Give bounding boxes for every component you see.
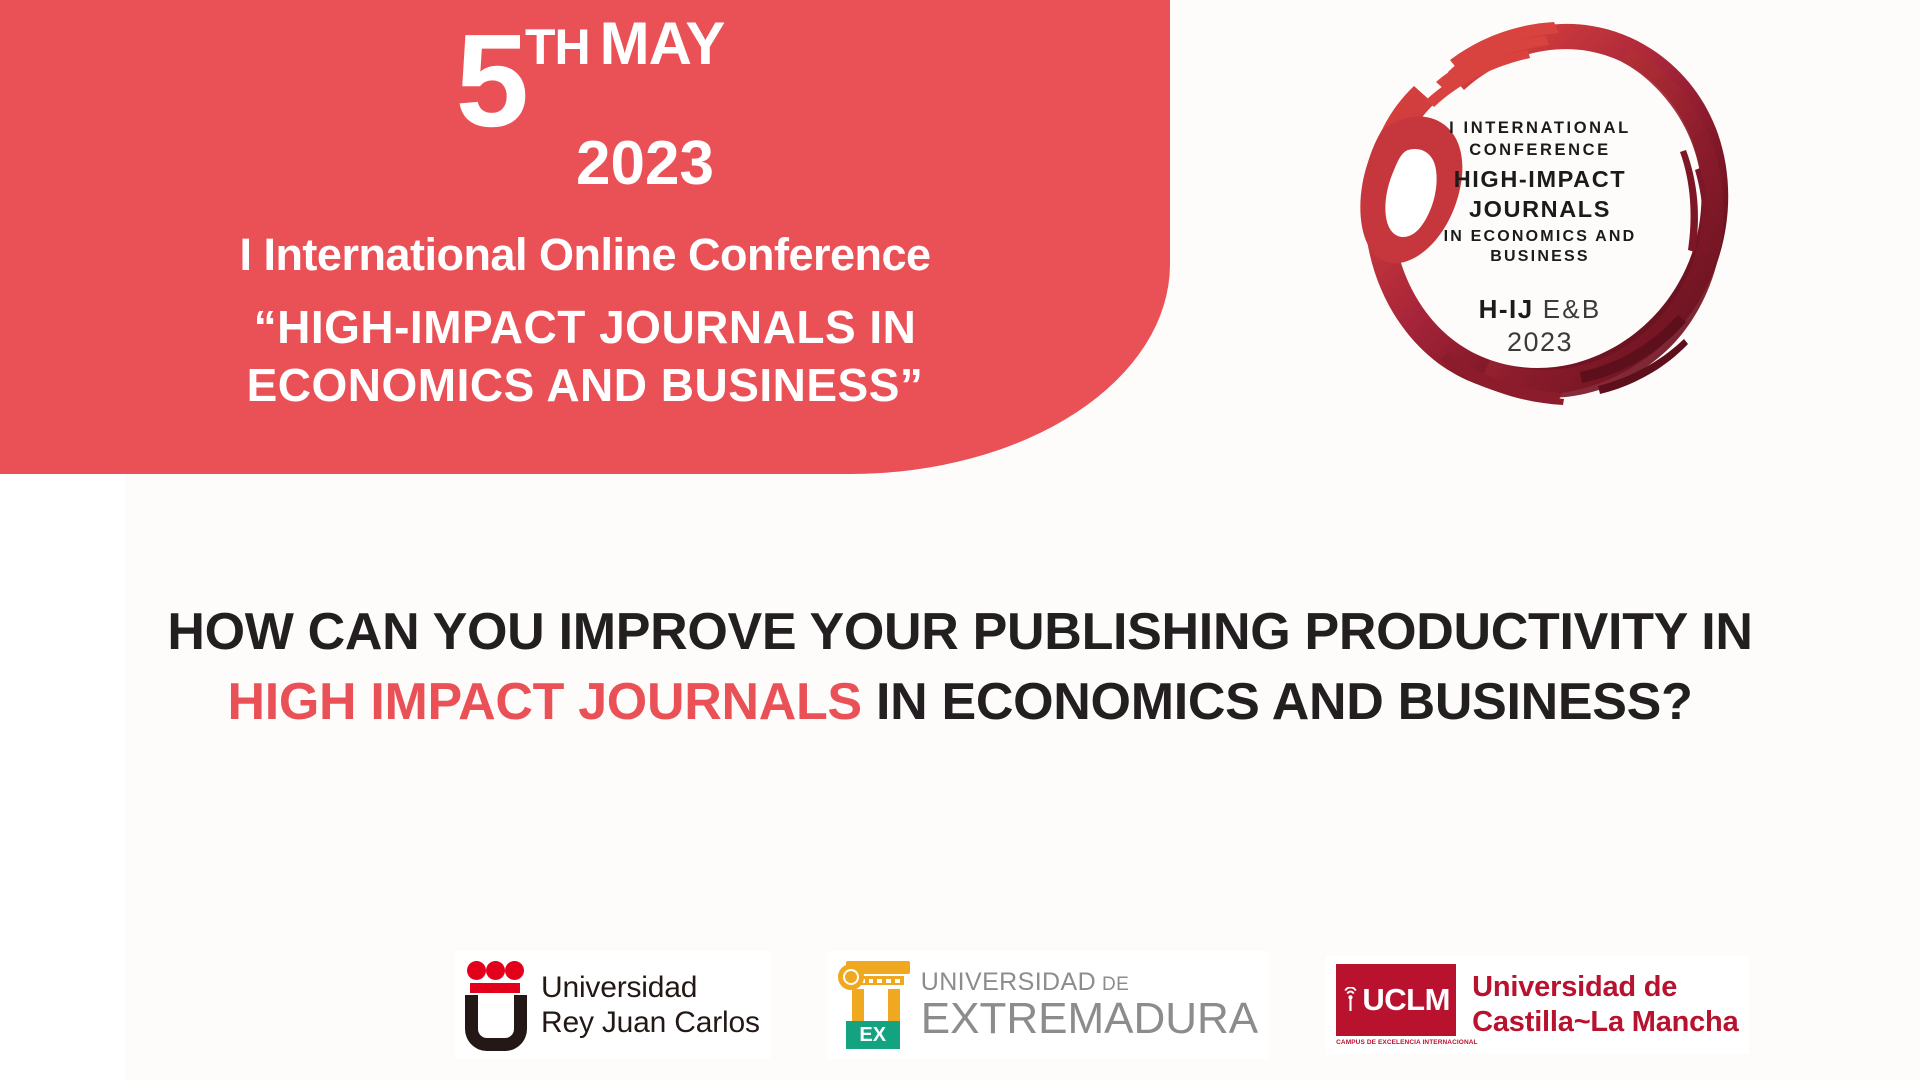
uex-badge: EX	[846, 1021, 900, 1049]
logo-line-2: CONFERENCE	[1469, 140, 1611, 162]
uclm-line-2: Castilla~La Mancha	[1472, 1005, 1738, 1040]
logo-line-6: BUSINESS	[1490, 247, 1589, 268]
conference-subtitle: I International Online Conference	[0, 230, 1170, 280]
uex-line-1: UNIVERSIDAD	[921, 970, 1096, 995]
logo-line-4: JOURNALS	[1469, 194, 1611, 225]
event-year: 2023	[0, 131, 1170, 196]
logo-acronym-row: H-IJE&B	[1479, 294, 1602, 325]
logo-line-1: I INTERNATIONAL	[1449, 118, 1631, 140]
conference-title-line-1: “HIGH-IMPACT JOURNALS IN	[0, 298, 1170, 357]
uclm-line-1: Universidad de	[1472, 970, 1738, 1005]
urjc-name: Universidad Rey Juan Carlos	[541, 970, 760, 1041]
partner-logos: Universidad Rey Juan Carlos EX UNIVERSID…	[125, 930, 1920, 1080]
conference-title-line-2: ECONOMICS AND BUSINESS”	[0, 356, 1170, 415]
logo-line-3: HIGH-IMPACT	[1454, 164, 1627, 195]
uclm-badge: UCLM	[1336, 964, 1456, 1036]
uclm-mark: UCLM CAMPUS DE EXCELENCIA INTERNACIONAL	[1336, 964, 1456, 1046]
uex-de: DE	[1102, 975, 1129, 994]
partner-logo-urjc: Universidad Rey Juan Carlos	[455, 951, 770, 1059]
partner-logo-uclm: UCLM CAMPUS DE EXCELENCIA INTERNACIONAL …	[1326, 956, 1748, 1054]
event-day-suffix: TH	[525, 19, 590, 75]
event-month: MAY	[600, 10, 725, 77]
event-day-number: 5	[456, 7, 525, 154]
urjc-crown-u-icon	[465, 959, 527, 1051]
urjc-line-2: Rey Juan Carlos	[541, 1005, 760, 1040]
uex-name: UNIVERSIDAD DE EXTREMADURA	[921, 970, 1258, 1041]
logo-line-5: IN ECONOMICS AND	[1444, 227, 1637, 248]
headline-part-1: HOW CAN YOU IMPROVE YOUR PUBLISHING PROD…	[167, 603, 1752, 661]
page-title: HOW CAN YOU IMPROVE YOUR PUBLISHING PROD…	[160, 598, 1760, 737]
uex-column-icon: EX	[838, 959, 912, 1051]
uclm-acronym: UCLM	[1362, 982, 1450, 1018]
logo-acronym: H-IJ	[1479, 294, 1534, 324]
urjc-line-1: Universidad	[541, 970, 760, 1005]
header-content: 5THMAY 2023 I International Online Confe…	[0, 0, 1170, 415]
logo-acronym-suffix: E&B	[1543, 294, 1602, 324]
header-banner: 5THMAY 2023 I International Online Confe…	[0, 0, 1170, 474]
headline-accent: HIGH IMPACT JOURNALS	[227, 673, 861, 731]
uclm-antenna-icon	[1342, 987, 1359, 1013]
partner-logo-uex: EX UNIVERSIDAD DE EXTREMADURA	[828, 951, 1268, 1059]
event-date: 5THMAY	[0, 14, 1170, 147]
uclm-tagline: CAMPUS DE EXCELENCIA INTERNACIONAL	[1336, 1039, 1456, 1046]
headline-part-2: IN ECONOMICS AND BUSINESS?	[862, 673, 1693, 731]
conference-logo-text: I INTERNATIONAL CONFERENCE HIGH-IMPACT J…	[1330, 0, 1750, 420]
uex-line-2: EXTREMADURA	[921, 997, 1258, 1041]
logo-year: 2023	[1507, 327, 1573, 358]
uclm-name: Universidad de Castilla~La Mancha	[1472, 970, 1738, 1040]
conference-logo: I INTERNATIONAL CONFERENCE HIGH-IMPACT J…	[1330, 0, 1750, 420]
